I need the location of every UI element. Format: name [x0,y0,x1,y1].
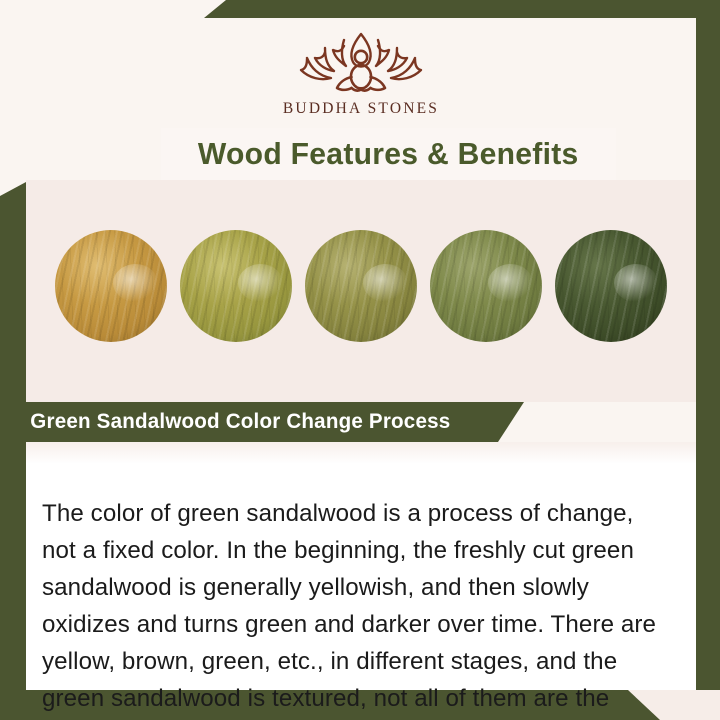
bead-highlight [363,264,408,302]
bead-stage-1-golden-yellow [55,230,167,342]
frame-right-border [696,0,720,720]
body-card: The color of green sandalwood is a proce… [26,442,696,690]
bead-highlight [614,264,659,302]
bead-stage-5-dark-green [555,230,667,342]
lotus-meditation-icon [281,28,441,94]
bead-highlight [488,264,533,302]
title-band: Wood Features & Benefits [26,128,696,180]
bead-highlight [113,264,158,302]
bead-row [26,230,696,342]
frame-top-right-accent [204,0,720,18]
bead-stage-3-olive [305,230,417,342]
brand-logo: BUDDHA STONES [26,28,696,118]
title-box: Wood Features & Benefits [161,128,616,180]
bead-highlight [238,264,283,302]
page-title: Wood Features & Benefits [198,136,579,172]
bead-stage-2-yellow-green [180,230,292,342]
frame-left-border [0,182,26,720]
poster-root: BUDDHA STONES Wood Features & Benefits [0,0,720,720]
body-card-top-fade [26,442,696,464]
bead-stage-4-sage-green [430,230,542,342]
section-banner: Green Sandalwood Color Change Process [0,402,524,442]
brand-name: BUDDHA STONES [283,100,439,118]
section-title: Green Sandalwood Color Change Process [30,410,450,434]
body-paragraph: The color of green sandalwood is a proce… [42,495,670,720]
bead-gallery-panel [26,180,696,402]
